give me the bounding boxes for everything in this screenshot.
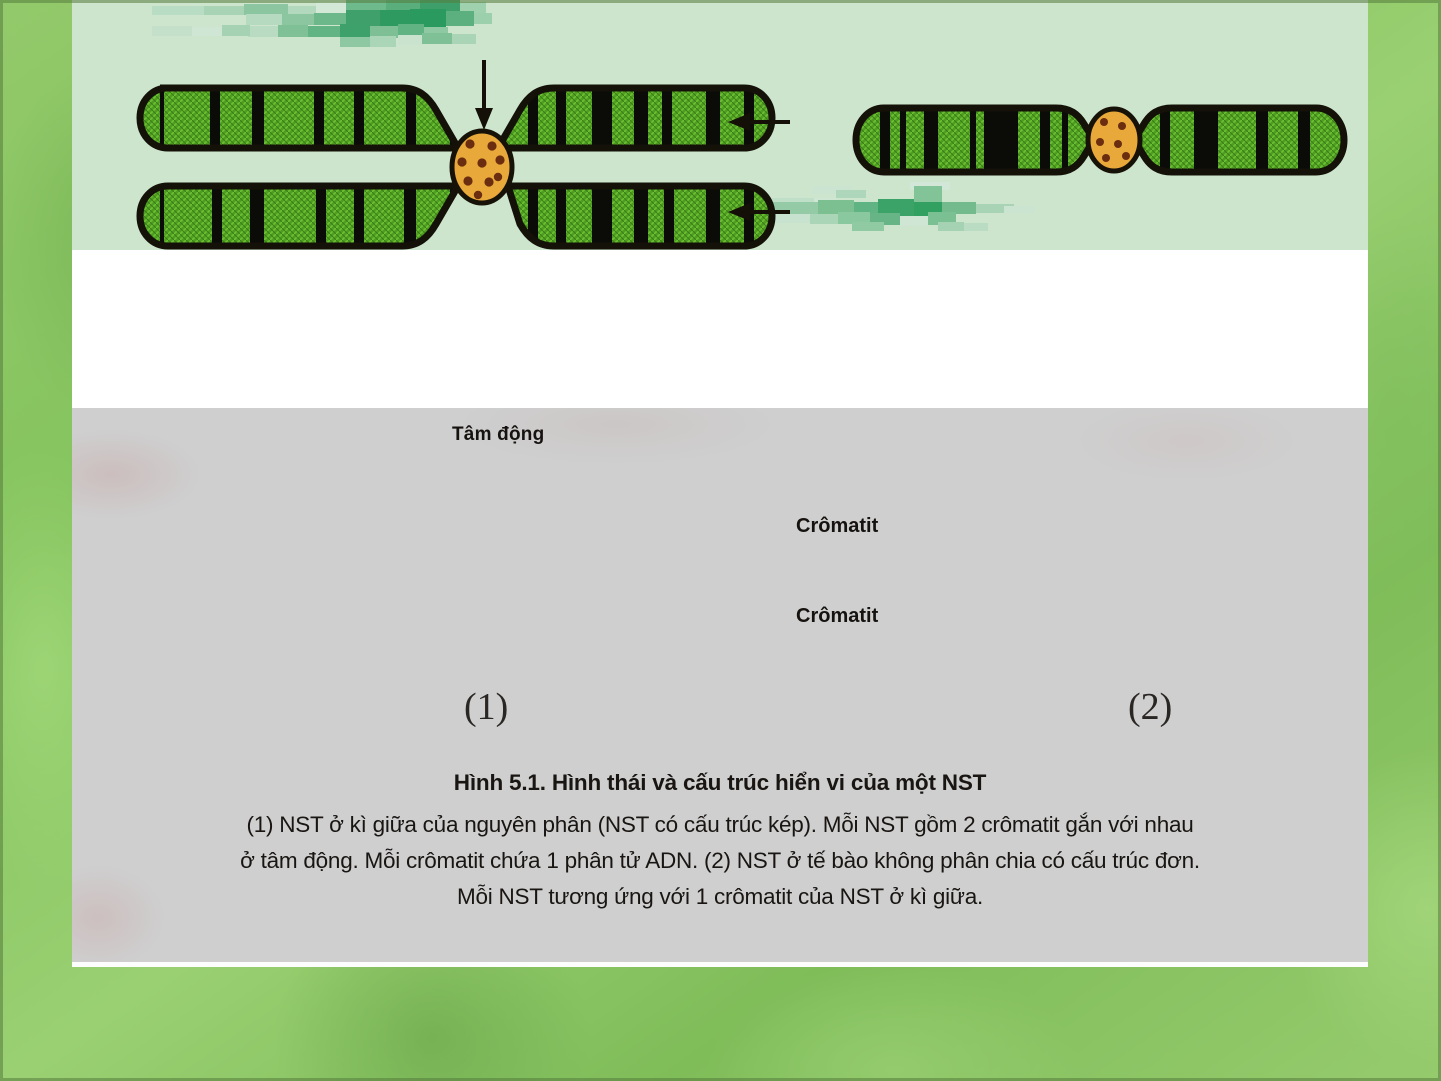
caption-line-3: Mỗi NST tương ứng với 1 crômatit của NST… (72, 884, 1368, 910)
chromatid-lower-right-arm (492, 182, 782, 254)
caption-line-2: ở tâm động. Mỗi crômatit chứa 1 phân tử … (72, 848, 1368, 874)
centromere-pointer-arrow (475, 60, 493, 130)
panel-number-left: (1) (464, 685, 508, 729)
centromere-2 (1088, 109, 1140, 171)
content-panel: Tâm động Crômatit Crômatit (1) (2) Hình … (72, 0, 1368, 967)
centromere-label: Tâm động (452, 424, 544, 446)
panel-number-right: (2) (1128, 685, 1172, 729)
slide-canvas: Tâm động Crômatit Crômatit (1) (2) Hình … (0, 0, 1441, 1081)
chromatid-label-bottom: Crômatit (796, 605, 878, 628)
panel-bottom-strip (72, 962, 1368, 967)
chromatid-label-top: Crômatit (796, 515, 878, 538)
caption-title: Hình 5.1. Hình thái và cấu trúc hiển vi … (72, 770, 1368, 796)
chromatid-upper-left-arm (132, 84, 472, 156)
chromosome-single-left-arm (852, 104, 1102, 180)
caption-line-1: (1) NST ở kì giữa của nguyên phân (NST c… (72, 812, 1368, 838)
centromere-1 (452, 131, 512, 203)
chromatid-lower-left-arm (132, 182, 472, 254)
chromosome-single-right-arm (1127, 104, 1357, 180)
